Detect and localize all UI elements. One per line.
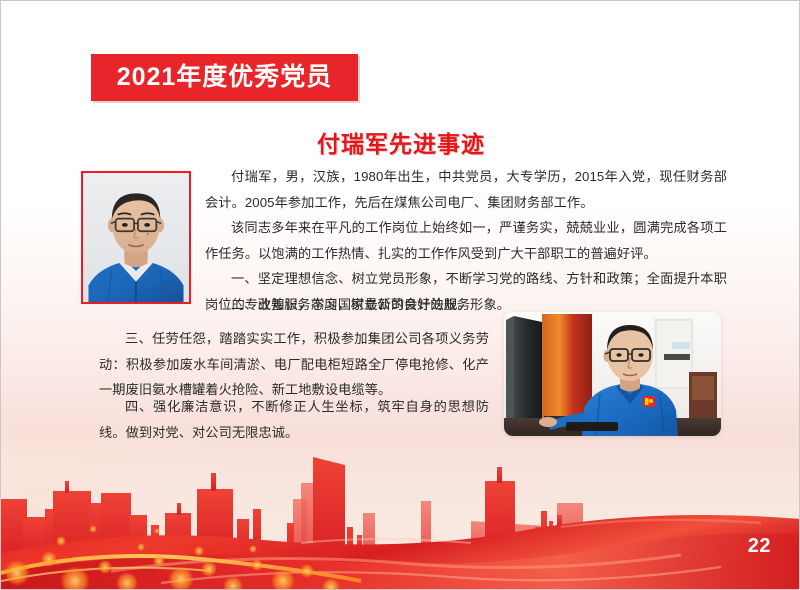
portrait-photo: [81, 171, 191, 304]
banner-title-text: 2021年度优秀党员: [91, 54, 358, 101]
page-title: 付瑞军先进事迹: [1, 125, 800, 159]
brochure-page: 2021年度优秀党员 付瑞军先进事迹: [0, 0, 800, 590]
footer-decoration: [1, 431, 800, 590]
page-number: 22: [748, 535, 771, 558]
title-banner: 2021年度优秀党员: [91, 54, 358, 101]
work-photo: [504, 312, 721, 436]
